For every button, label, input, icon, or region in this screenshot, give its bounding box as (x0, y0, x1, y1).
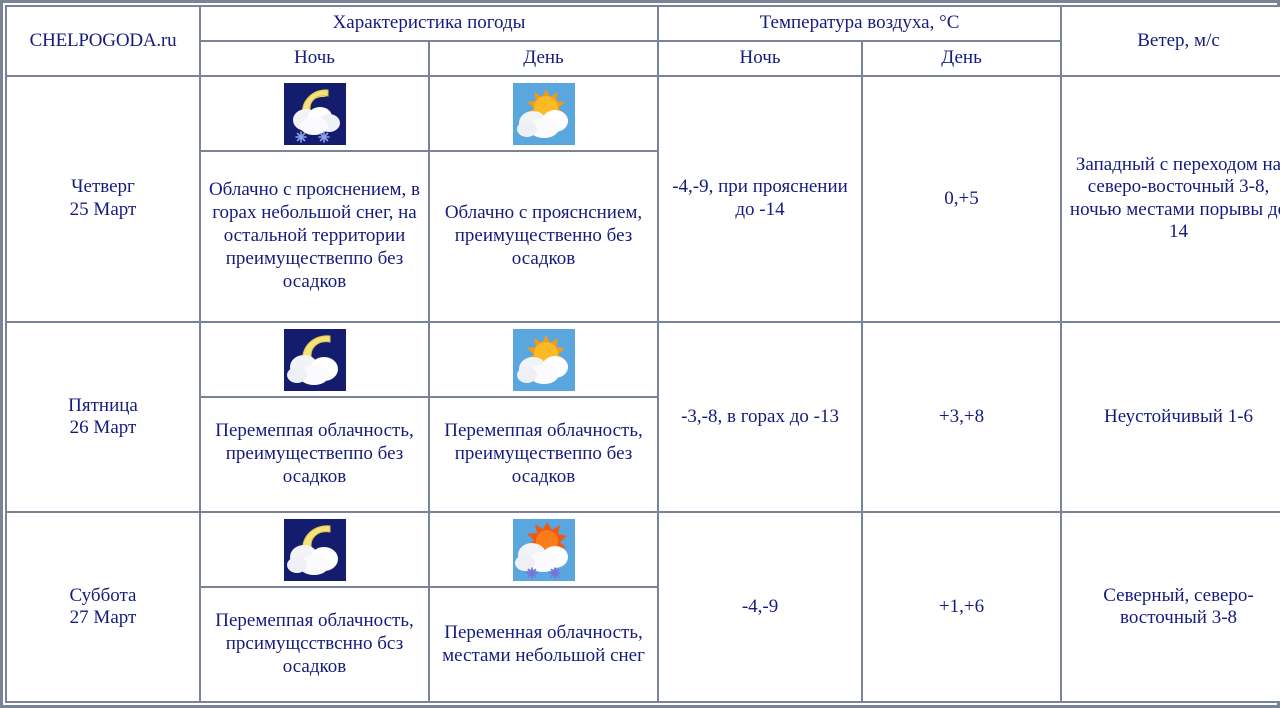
day-weather-cell: Перемеппая облачность, преимуществеппо б… (430, 323, 657, 511)
header-weather-night: Ночь (201, 42, 428, 75)
night-weather-cell: Перемеппая облачность, прсимущсствснно б… (201, 513, 428, 701)
night-description: Перемеппая облачность, преимуществеппо б… (204, 420, 425, 488)
night-description-box: Облачно с прояснением, в горах небольшой… (201, 152, 428, 322)
day-description-box: Перемеппая облачность, преимуществеппо б… (430, 398, 657, 511)
header-weather-day: День (430, 42, 657, 75)
night-description: Перемеппая облачность, прсимущсствснно б… (204, 610, 425, 678)
moon-cloud-snow-icon (284, 83, 346, 145)
wind-cell: Неустойчивый 1-6 (1062, 323, 1280, 511)
day-description: Перемеппая облачность, преимуществеппо б… (433, 420, 654, 488)
day-icon-box (430, 513, 657, 586)
night-weather-cell: Перемеппая облачность, преимуществеппо б… (201, 323, 428, 511)
day-icon-box (430, 77, 657, 150)
table-row: Суббота 27 Март (7, 513, 1280, 701)
sun-cloud-snow-icon (513, 519, 575, 581)
table-row: Четверг 25 Март (7, 77, 1280, 322)
day-weather-cell: Облачно с прояснснием, преимущественно б… (430, 77, 657, 322)
wind-cell: Западный с переходом на северо-восточный… (1062, 77, 1280, 322)
day-description-box: Облачно с прояснснием, преимущественно б… (430, 152, 657, 322)
night-description: Облачно с прояснением, в горах небольшой… (204, 179, 425, 293)
night-icon-box (201, 77, 428, 150)
day-description: Облачно с прояснснием, преимущественно б… (433, 202, 654, 270)
day-weather-cell: Переменная облачность, местами небольшой… (430, 513, 657, 701)
header-temp-night: Ночь (659, 42, 861, 75)
temp-night-cell: -4,-9 (659, 513, 861, 701)
night-description-box: Перемеппая облачность, преимуществеппо б… (201, 398, 428, 511)
weekday-label: Четверг (11, 176, 195, 198)
night-icon-box (201, 513, 428, 586)
temp-night-cell: -3,-8, в горах до -13 (659, 323, 861, 511)
header-temp-day: День (863, 42, 1060, 75)
temp-day-cell: +1,+6 (863, 513, 1060, 701)
date-label: 26 Март (11, 417, 195, 439)
moon-cloud-icon (284, 519, 346, 581)
moon-cloud-icon (284, 329, 346, 391)
temp-day-cell: 0,+5 (863, 77, 1060, 322)
night-icon-box (201, 323, 428, 396)
header-wind-group: Ветер, м/с (1062, 7, 1280, 75)
day-description-box: Переменная облачность, местами небольшой… (430, 588, 657, 701)
date-label: 25 Март (11, 199, 195, 221)
forecast-date-cell: Пятница 26 Март (7, 323, 199, 511)
sun-cloud-icon (513, 329, 575, 391)
temp-night-cell: -4,-9, при прояснении до -14 (659, 77, 861, 322)
date-label: 27 Март (11, 607, 195, 629)
weather-forecast-table: CHELPOGODA.ru Характеристика погоды Темп… (5, 5, 1280, 703)
wind-cell: Северный, северо-восточный 3-8 (1062, 513, 1280, 701)
sun-cloud-icon (513, 83, 575, 145)
weekday-label: Суббота (11, 585, 195, 607)
table-header-row-1: CHELPOGODA.ru Характеристика погоды Темп… (7, 7, 1280, 40)
temp-day-cell: +3,+8 (863, 323, 1060, 511)
night-description-box: Перемеппая облачность, прсимущсствснно б… (201, 588, 428, 701)
header-weather-group: Характеристика погоды (201, 7, 657, 40)
header-temperature-group: Температура воздуха, °C (659, 7, 1060, 40)
weekday-label: Пятница (11, 395, 195, 417)
forecast-date-cell: Четверг 25 Март (7, 77, 199, 322)
forecast-date-cell: Суббота 27 Март (7, 513, 199, 701)
day-description: Переменная облачность, местами небольшой… (433, 622, 654, 668)
night-weather-cell: Облачно с прояснением, в горах небольшой… (201, 77, 428, 322)
table-row: Пятница 26 Март (7, 323, 1280, 511)
weather-table-frame: CHELPOGODA.ru Характеристика погоды Темп… (0, 0, 1280, 708)
day-icon-box (430, 323, 657, 396)
site-brand: CHELPOGODA.ru (7, 7, 199, 75)
